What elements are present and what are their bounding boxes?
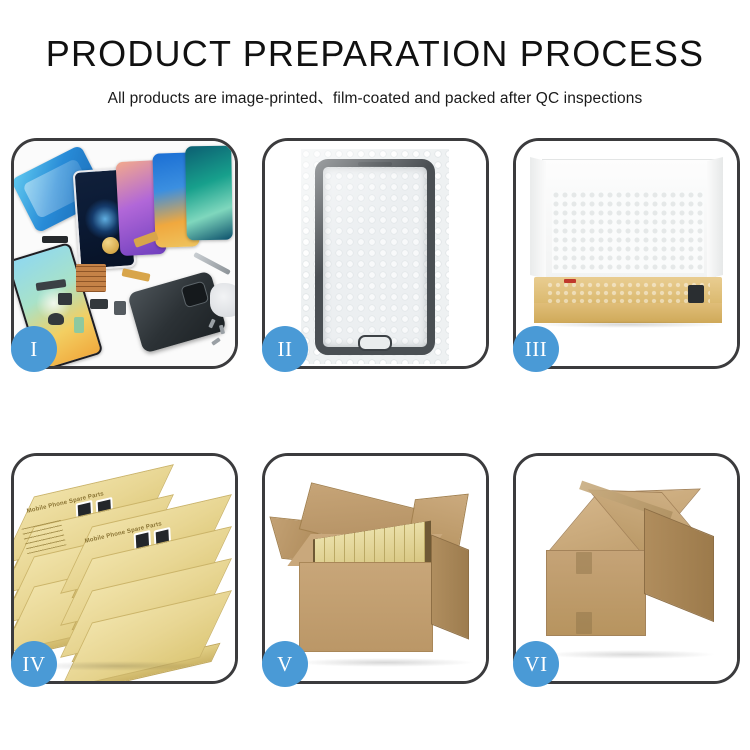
- step-panel-6[interactable]: VI: [513, 453, 740, 684]
- process-steps-grid: I II III: [11, 138, 739, 684]
- step-badge-5: V: [262, 641, 308, 687]
- carton-front: [546, 550, 646, 636]
- screw-3: [211, 337, 221, 345]
- wrapped-screen: [315, 159, 435, 355]
- step-badge-6: VI: [513, 641, 559, 687]
- step-panel-1[interactable]: I: [11, 138, 238, 369]
- step-badge-1: I: [11, 326, 57, 372]
- small-part-4: [48, 313, 64, 325]
- carton-handle-top: [576, 552, 592, 574]
- step-panel-4[interactable]: Mobile Phone Spare Parts: [11, 453, 238, 684]
- drop-shadow: [532, 321, 724, 328]
- header: PRODUCT PREPARATION PROCESS All products…: [0, 0, 750, 108]
- carton-side: [431, 534, 469, 639]
- small-part-3: [114, 301, 126, 315]
- box-lid-right-flap: [707, 157, 723, 279]
- foam-lining: [552, 191, 704, 273]
- box-lid-left-flap: [530, 157, 546, 279]
- step-panel-5[interactable]: V: [262, 453, 489, 684]
- flex-cable-2: [121, 268, 150, 282]
- step-badge-2: II: [262, 326, 308, 372]
- drop-shadow: [295, 658, 475, 667]
- small-part-2: [90, 299, 108, 309]
- page-subtitle: All products are image-printed、film-coat…: [0, 72, 750, 108]
- kraft-tray-front: [534, 303, 722, 323]
- cleaning-cloth: [210, 283, 235, 317]
- step-panel-3[interactable]: III: [513, 138, 740, 369]
- drop-shadow: [544, 650, 716, 659]
- small-part-5: [74, 317, 84, 333]
- earpiece-part: [42, 236, 68, 243]
- small-part-1: [58, 293, 72, 305]
- carton-front: [299, 562, 433, 652]
- speaker-part: [102, 237, 119, 254]
- carton-right-side: [644, 508, 714, 622]
- infographic-page: PRODUCT PREPARATION PROCESS All products…: [0, 0, 750, 750]
- phone-display-4: [185, 146, 233, 241]
- tweezers-tool: [193, 252, 231, 275]
- page-title: PRODUCT PREPARATION PROCESS: [0, 0, 750, 72]
- step-badge-4: IV: [11, 641, 57, 687]
- step-badge-3: III: [513, 326, 559, 372]
- carton-handle-bottom: [576, 612, 592, 634]
- step-panel-2[interactable]: II: [262, 138, 489, 369]
- copper-mesh-part: [76, 264, 106, 292]
- label-sticker: [564, 279, 576, 283]
